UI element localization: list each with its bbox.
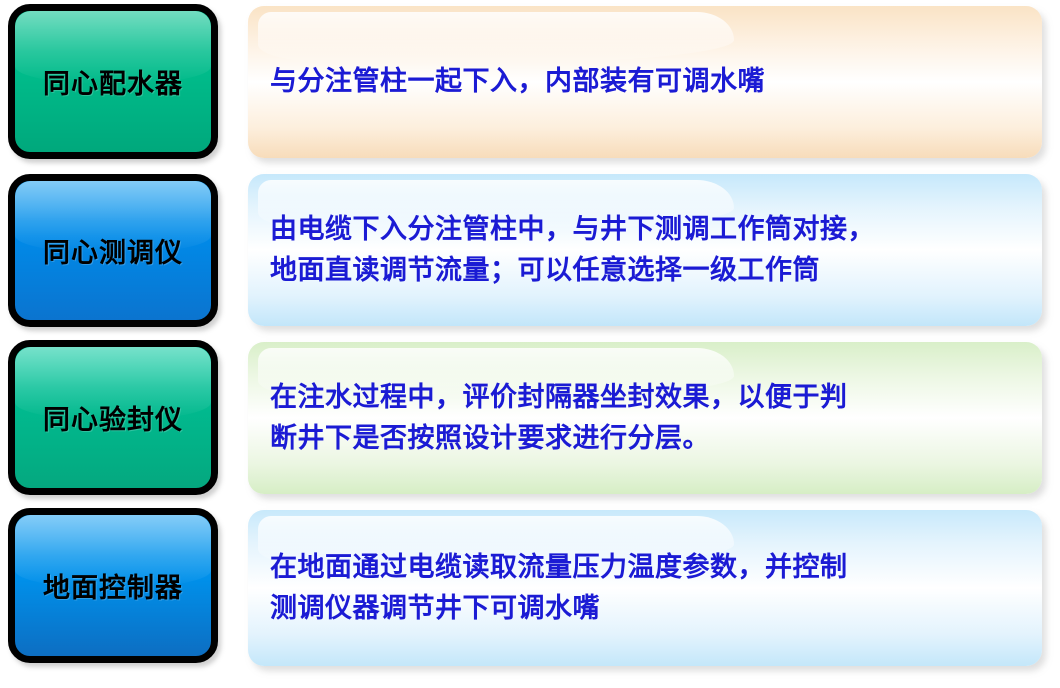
- tool-label-chip-4[interactable]: 地面控制器: [8, 508, 218, 663]
- tool-label-text: 同心验封仪: [43, 398, 183, 437]
- content-row: 地面控制器 在地面通过电缆读取流量压力温度参数，并控制 测调仪器调节井下可调水嘴: [0, 506, 1060, 688]
- description-line: 地面直读调节流量；可以任意选择一级工作筒: [270, 250, 1020, 291]
- tool-label-chip-2[interactable]: 同心测调仪: [8, 174, 218, 327]
- description-panel-4: 在地面通过电缆读取流量压力温度参数，并控制 测调仪器调节井下可调水嘴: [248, 510, 1042, 666]
- description-lines: 在注水过程中，评价封隔器坐封效果，以便于判 断井下是否按照设计要求进行分层。: [270, 377, 1020, 459]
- content-row: 同心配水器 与分注管柱一起下入，内部装有可调水嘴: [0, 0, 1060, 168]
- tool-label-text: 同心测调仪: [43, 231, 183, 270]
- description-lines: 与分注管柱一起下入，内部装有可调水嘴: [270, 61, 1020, 102]
- description-line: 断井下是否按照设计要求进行分层。: [270, 418, 1020, 459]
- description-panel-1: 与分注管柱一起下入，内部装有可调水嘴: [248, 6, 1042, 158]
- tool-label-chip-3[interactable]: 同心验封仪: [8, 340, 218, 495]
- description-lines: 由电缆下入分注管柱中，与井下测调工作筒对接， 地面直读调节流量；可以任意选择一级…: [270, 209, 1020, 291]
- description-line: 测调仪器调节井下可调水嘴: [270, 588, 1020, 629]
- tool-label-chip-1[interactable]: 同心配水器: [8, 4, 218, 159]
- tool-label-text: 地面控制器: [43, 566, 183, 605]
- description-line: 与分注管柱一起下入，内部装有可调水嘴: [270, 61, 1020, 102]
- description-line: 在注水过程中，评价封隔器坐封效果，以便于判: [270, 377, 1020, 418]
- slide-canvas: 同心配水器 与分注管柱一起下入，内部装有可调水嘴 同心测调仪 由电缆下入分注管柱…: [0, 0, 1060, 688]
- description-lines: 在地面通过电缆读取流量压力温度参数，并控制 测调仪器调节井下可调水嘴: [270, 547, 1020, 629]
- description-line: 由电缆下入分注管柱中，与井下测调工作筒对接，: [270, 209, 1020, 250]
- description-line: 在地面通过电缆读取流量压力温度参数，并控制: [270, 547, 1020, 588]
- description-panel-2: 由电缆下入分注管柱中，与井下测调工作筒对接， 地面直读调节流量；可以任意选择一级…: [248, 174, 1042, 326]
- tool-label-text: 同心配水器: [43, 62, 183, 101]
- gloss-highlight-icon: [258, 12, 734, 64]
- description-panel-3: 在注水过程中，评价封隔器坐封效果，以便于判 断井下是否按照设计要求进行分层。: [248, 342, 1042, 494]
- content-row: 同心测调仪 由电缆下入分注管柱中，与井下测调工作筒对接， 地面直读调节流量；可以…: [0, 170, 1060, 336]
- content-row: 同心验封仪 在注水过程中，评价封隔器坐封效果，以便于判 断井下是否按照设计要求进…: [0, 338, 1060, 504]
